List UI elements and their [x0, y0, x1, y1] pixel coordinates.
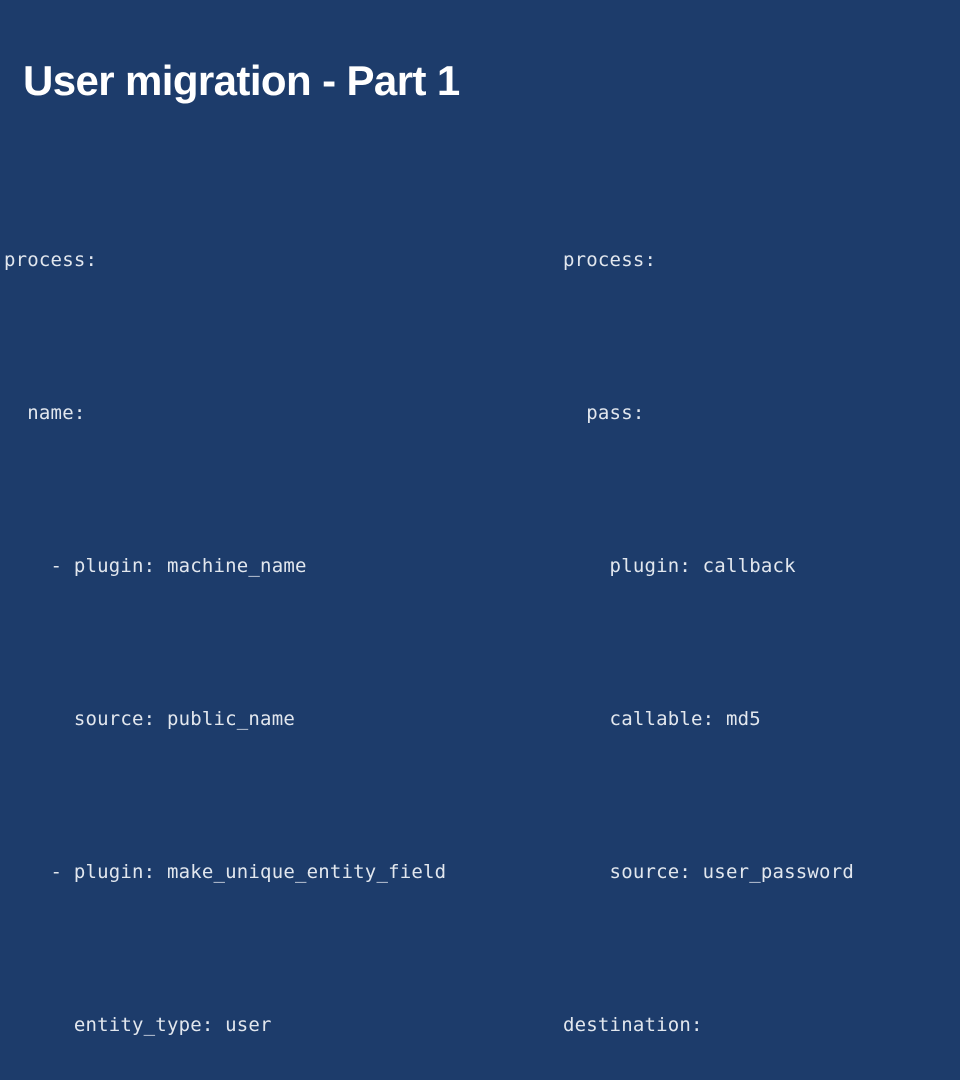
code-line: plugin: callback: [563, 541, 958, 592]
code-line: process:: [4, 235, 534, 286]
code-block-right: process: pass: plugin: callback callable…: [563, 133, 958, 1080]
presentation-slide: User migration - Part 1 process: name: -…: [0, 0, 960, 540]
code-line: callable: md5: [563, 694, 958, 745]
code-block-left: process: name: - plugin: machine_name so…: [4, 133, 534, 1080]
page-title: User migration - Part 1: [23, 55, 460, 107]
code-line: - plugin: make_unique_entity_field: [4, 847, 534, 898]
code-line: source: user_password: [563, 847, 958, 898]
code-line: entity_type: user: [4, 1000, 534, 1051]
code-line: process:: [563, 235, 958, 286]
code-line: source: public_name: [4, 694, 534, 745]
code-line: name:: [4, 388, 534, 439]
code-line: destination:: [563, 1000, 958, 1051]
code-line: - plugin: machine_name: [4, 541, 534, 592]
code-line: pass:: [563, 388, 958, 439]
